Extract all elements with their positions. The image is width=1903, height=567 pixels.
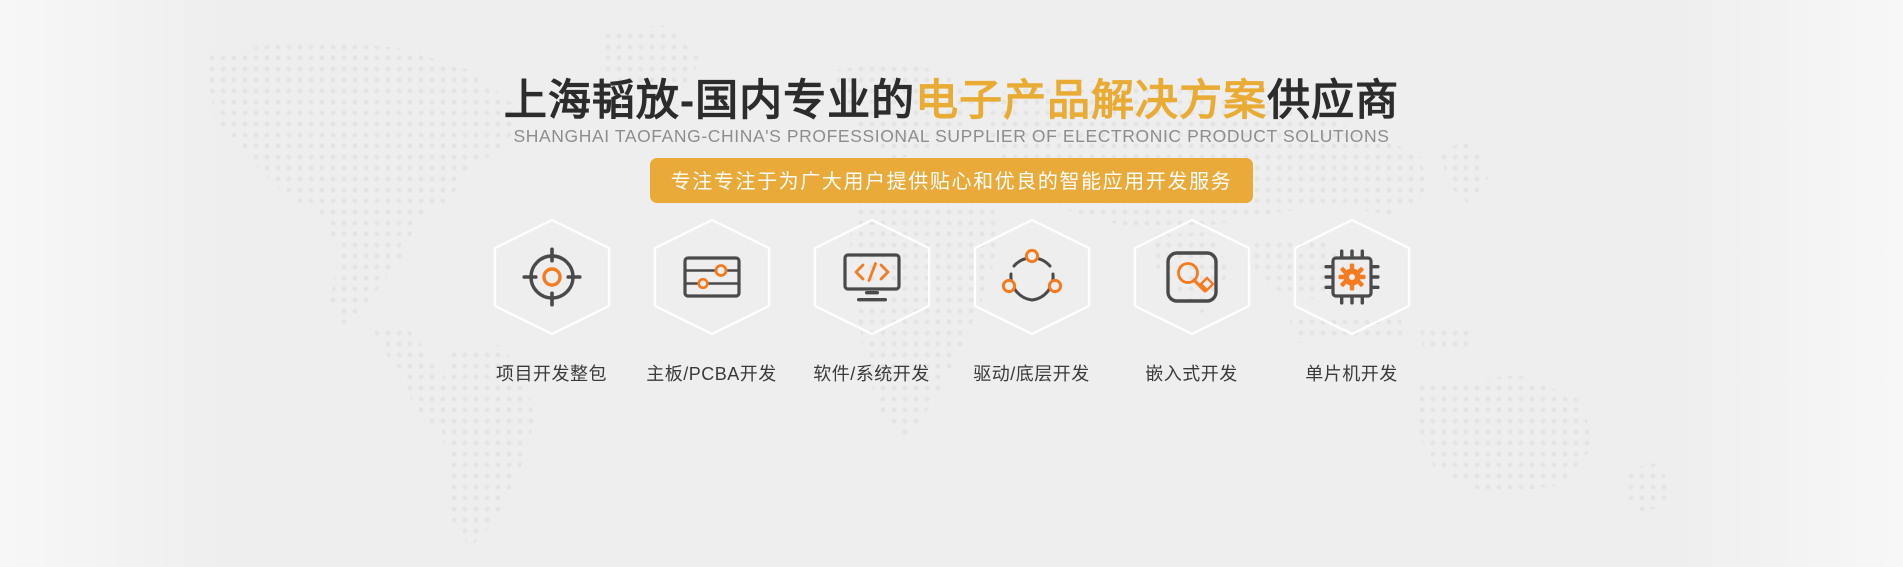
hexagon-frame <box>1131 218 1253 336</box>
hexagon-frame <box>491 218 613 336</box>
service-item-pcba[interactable]: 主板/PCBA开发 <box>651 218 773 386</box>
crosshair-target-icon <box>521 246 583 308</box>
hexagon-frame <box>811 218 933 336</box>
service-label: 项目开发整包 <box>496 360 607 386</box>
service-label: 嵌入式开发 <box>1145 360 1238 386</box>
service-item-embedded[interactable]: 嵌入式开发 <box>1131 218 1253 386</box>
service-item-driver[interactable]: 驱动/底层开发 <box>971 218 1093 386</box>
headline-part-2: 供应商 <box>1267 77 1399 125</box>
service-label: 软件/系统开发 <box>813 360 930 386</box>
service-label: 驱动/底层开发 <box>973 360 1090 386</box>
network-nodes-icon <box>1001 246 1063 308</box>
hero-banner: 上海韬放-国内专业的电子产品解决方案供应商 SHANGHAI TAOFANG-C… <box>0 0 1903 567</box>
service-item-project-package[interactable]: 项目开发整包 <box>491 218 613 386</box>
page-title: 上海韬放-国内专业的电子产品解决方案供应商 <box>0 78 1903 125</box>
tagline-container: 专注专注于为广大用户提供贴心和优良的智能应用开发服务 <box>0 158 1903 203</box>
hexagon-frame <box>1291 218 1413 336</box>
microcontroller-gear-icon <box>1321 246 1383 308</box>
service-item-mcu[interactable]: 单片机开发 <box>1291 218 1413 386</box>
page-subtitle: SHANGHAI TAOFANG-CHINA'S PROFESSIONAL SU… <box>0 126 1903 147</box>
hexagon-frame <box>651 218 773 336</box>
circuit-board-icon <box>681 246 743 308</box>
headline-part-1: 上海韬放-国内专业的 <box>504 77 915 125</box>
service-item-software[interactable]: 软件/系统开发 <box>811 218 933 386</box>
headline-accent: 电子产品解决方案 <box>915 77 1267 125</box>
code-monitor-icon <box>841 246 903 308</box>
service-label: 主板/PCBA开发 <box>646 360 777 386</box>
service-list: 项目开发整包 <box>0 218 1903 386</box>
hexagon-frame <box>971 218 1093 336</box>
embedded-chip-link-icon <box>1161 246 1223 308</box>
service-label: 单片机开发 <box>1305 360 1398 386</box>
tagline-badge: 专注专注于为广大用户提供贴心和优良的智能应用开发服务 <box>650 158 1254 203</box>
